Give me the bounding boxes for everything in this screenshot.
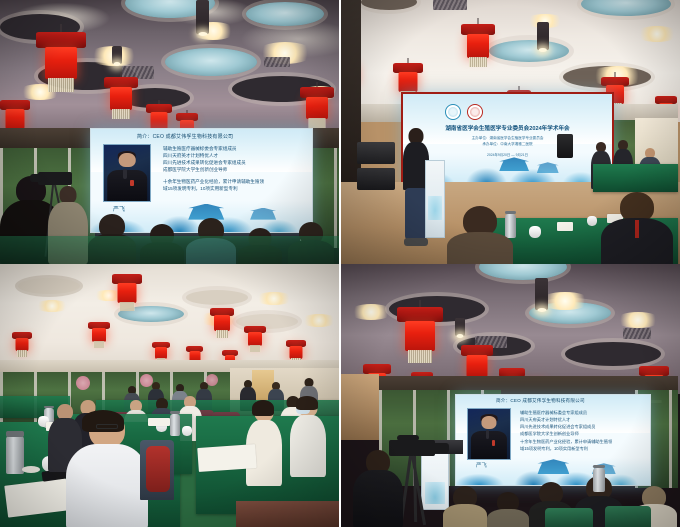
ceiling-downlight: [537, 22, 549, 50]
banner-subline: 主办单位：湖南省医学会生殖医学专业委员会: [403, 136, 612, 141]
lantern-tassel: [309, 118, 326, 128]
decor-flower: [76, 376, 90, 390]
red-lantern: [461, 18, 495, 80]
equipment-case: [357, 168, 395, 190]
ceiling-oval-dark: [361, 0, 417, 10]
slide-bio-block: 辅助生殖医疗器械标委会专家组成员 四川天府英才计划特优人才 四川先进技术成果转化…: [520, 410, 595, 438]
slide-bio-line: 辅助生殖医疗器械标委会专家组成员: [163, 146, 246, 152]
ceiling-vent: [623, 328, 651, 339]
slide-bio-line: 四川先进技术成果转化促进会专家组成员: [520, 424, 595, 430]
ceiling-spot: [34, 300, 70, 312]
lantern-body: [110, 87, 132, 110]
ceiling-oval-lit: [489, 40, 569, 62]
lantern-tassel: [94, 341, 105, 348]
person-shoes: [404, 238, 428, 246]
tea-cup: [182, 426, 192, 436]
red-lantern: [397, 300, 443, 380]
slide-bio-line: 四川天府英才计划特优人才: [520, 417, 595, 423]
wall-left-warm-br: [339, 374, 379, 440]
slide-paragraph-block: 十余年生物医药产业化经验，累计申请辅助生殖领 域15项发明专利，10项实用新型专…: [520, 439, 612, 453]
presentation-screen-br: 简介：CEO 成都艾伟孚生物科技有限公司 严飞 辅助生殖医疗器械标委会专家组成员…: [455, 394, 651, 486]
ceiling-oval-dark: [565, 342, 661, 366]
ceiling-downlight: [196, 0, 209, 34]
banner-subline: 承办单位：中南大学湘雅二医院: [403, 142, 612, 147]
slide-bio-line: 辅助生殖医疗器械标委会专家组成员: [520, 410, 595, 416]
photo-torso: [471, 431, 507, 459]
camera-lens: [431, 443, 449, 453]
tripod-leg: [413, 456, 417, 522]
thermos-flask: [170, 414, 180, 436]
slide-speaker-name: 严飞: [113, 204, 125, 213]
panel-bottom-left: [0, 264, 339, 527]
ceiling-downlight: [535, 278, 548, 310]
lantern-tassel: [469, 57, 487, 67]
lantern-body: [467, 34, 489, 58]
red-lantern: [112, 274, 142, 330]
equipment-case: [357, 142, 395, 164]
university-logo-icon: [467, 104, 483, 120]
lantern-body: [248, 332, 262, 346]
person-hair: [296, 396, 318, 410]
person-body: [66, 444, 148, 527]
lantern-body: [399, 72, 418, 92]
ceiling-vent: [264, 57, 290, 67]
lantern-cord: [61, 24, 62, 32]
note-sheet: [148, 418, 170, 426]
lantern-body: [405, 321, 435, 351]
panel-top-right: 湖南省医学会生殖医学专业委员会2024年学术年会 主办单位：湖南省医学会生殖医学…: [339, 0, 680, 264]
logo-inner: [470, 107, 480, 117]
red-lantern: [88, 322, 110, 360]
slide-paragraph-line: 域15项发明专利，10项实用新型专利: [520, 446, 612, 452]
red-lantern: [104, 72, 138, 132]
name-card: [557, 222, 573, 231]
ceiling-vent: [433, 0, 467, 10]
eyeglasses: [96, 424, 118, 429]
photo-badge: [492, 440, 496, 446]
lantern-body: [6, 109, 25, 129]
tea-cup: [587, 216, 597, 226]
tea-cup: [529, 226, 541, 238]
programme-handout: [197, 444, 257, 472]
panel-top-left: 简介：CEO 成都艾伟孚生物科技有限公司 严飞 辅助生殖医疗器械标委会专家组成员…: [0, 0, 339, 264]
lantern-tassel: [112, 109, 130, 119]
audience-silhouette: [487, 492, 529, 527]
photo-microphone: [123, 169, 126, 179]
lantern-tassel: [216, 330, 228, 338]
ceiling-oval-trim: [18, 278, 80, 294]
draped-jacket: [146, 446, 170, 492]
ceiling-spot: [254, 292, 294, 305]
seat-chair: [545, 508, 593, 527]
ceiling-downlight: [112, 46, 122, 64]
camera-handle: [397, 435, 419, 441]
lantern-cord: [420, 300, 421, 307]
slide-paragraph-block: 十余年生物医药产业化经验，累计申请辅助生殖领 域15项发明专利，10项实用新型专…: [163, 179, 264, 193]
camera-body: [38, 172, 72, 185]
slide-title-line: 简介：CEO 成都艾伟孚生物科技有限公司: [137, 133, 233, 140]
slide-paragraph-line: 十余年生物医药产业化经验，累计申请辅助生殖领: [163, 179, 264, 185]
floor-bl: [236, 501, 339, 527]
audience-silhouette: [443, 486, 487, 527]
ceiling-oval-trim: [186, 290, 248, 305]
ceiling-spot: [635, 26, 679, 42]
slide-paragraph-line: 十余年生物医药产业化经验，累计申请辅助生殖领: [520, 439, 612, 445]
logo-inner: [448, 107, 458, 117]
person-body: [290, 415, 326, 477]
red-lantern: [36, 24, 86, 108]
lantern-tassel: [250, 345, 261, 352]
silhouette-body: [487, 509, 529, 527]
lantern-body: [45, 47, 77, 79]
banner-title: 湖南省医学会生殖医学专业委员会2024年学术年会: [403, 124, 612, 132]
lantern-body: [306, 97, 328, 119]
conference-table-tr-right: [593, 164, 678, 192]
red-lantern: [210, 308, 234, 350]
photo-collage: 简介：CEO 成都艾伟孚生物科技有限公司 严飞 辅助生殖医疗器械标委会专家组成员…: [0, 0, 680, 527]
lantern-body: [467, 355, 488, 377]
slide-paragraph-line: 域15项发明专利，10项实用新型专利: [163, 186, 264, 192]
collage-divider-vertical: [339, 0, 341, 527]
lantern-cap: [36, 32, 86, 48]
slide-bio-line: 成都医学院大学生创新创业导师: [163, 167, 246, 173]
person-legs: [405, 188, 427, 240]
lantern-tassel: [48, 78, 74, 92]
ceiling-spot: [349, 304, 393, 320]
lantern-cap: [397, 307, 443, 322]
lantern-body: [118, 283, 137, 303]
slide-bio-line: 成都医学院大学生创新创业导师: [520, 431, 595, 437]
photo-torso: [107, 170, 147, 201]
slide-speaker-name: 严飞: [476, 461, 487, 469]
lantern-tassel: [17, 350, 27, 357]
red-lantern: [244, 326, 266, 364]
seat-chair: [605, 506, 651, 527]
slide-title-line: 简介：CEO 成都艾伟孚生物科技有限公司: [496, 398, 585, 404]
slide-speaker-photo: [467, 408, 511, 460]
ceiling-downlight: [455, 318, 465, 336]
person-hair: [252, 400, 274, 416]
panel-bottom-right: 简介：CEO 成都艾伟孚生物科技有限公司 严飞 辅助生殖医疗器械标委会专家组成员…: [339, 264, 680, 527]
ceiling-spot: [615, 312, 661, 328]
ceiling-spot: [300, 314, 338, 327]
slide-bio-block: 辅助生殖医疗器械标委会专家组成员 四川天府英才计划特优人才 四川先进技术成果转化…: [163, 146, 246, 174]
videographer-person: [353, 450, 403, 527]
silhouette-body: [443, 504, 487, 527]
ceiling-oval-lit: [246, 2, 324, 26]
lanyard: [635, 220, 639, 238]
slide-bio-line: 四川先进技术成果转化促进会专家组成员: [163, 160, 246, 166]
lantern-tassel: [408, 350, 432, 363]
saucer: [22, 466, 40, 473]
slide-speaker-photo: [103, 144, 151, 202]
banner-date: 2024年9月20日 — 9月21日: [403, 152, 612, 157]
lectern-graphic: [428, 196, 442, 220]
photo-head: [481, 416, 496, 429]
conference-table-tl: [0, 236, 339, 264]
slide-bio-line: 四川天府英才计划特优人才: [163, 153, 246, 159]
lantern-tassel: [120, 302, 135, 311]
ceiling-oval-lit: [581, 0, 671, 16]
lantern-body: [92, 328, 106, 342]
camera-lens: [30, 174, 42, 182]
ceiling-oval-lit: [479, 264, 567, 280]
thermos-flask: [593, 468, 605, 492]
photo-badge: [130, 180, 134, 186]
lantern-body: [214, 315, 230, 331]
society-logo-icon: [445, 104, 461, 120]
photo-head: [119, 153, 136, 168]
foreground-attendee: [447, 206, 513, 264]
ceiling-oval-lit: [165, 48, 257, 76]
person-body: [353, 470, 403, 527]
silhouette-body: [447, 232, 513, 264]
speaker-box: [557, 134, 573, 158]
photo-microphone: [486, 430, 489, 439]
